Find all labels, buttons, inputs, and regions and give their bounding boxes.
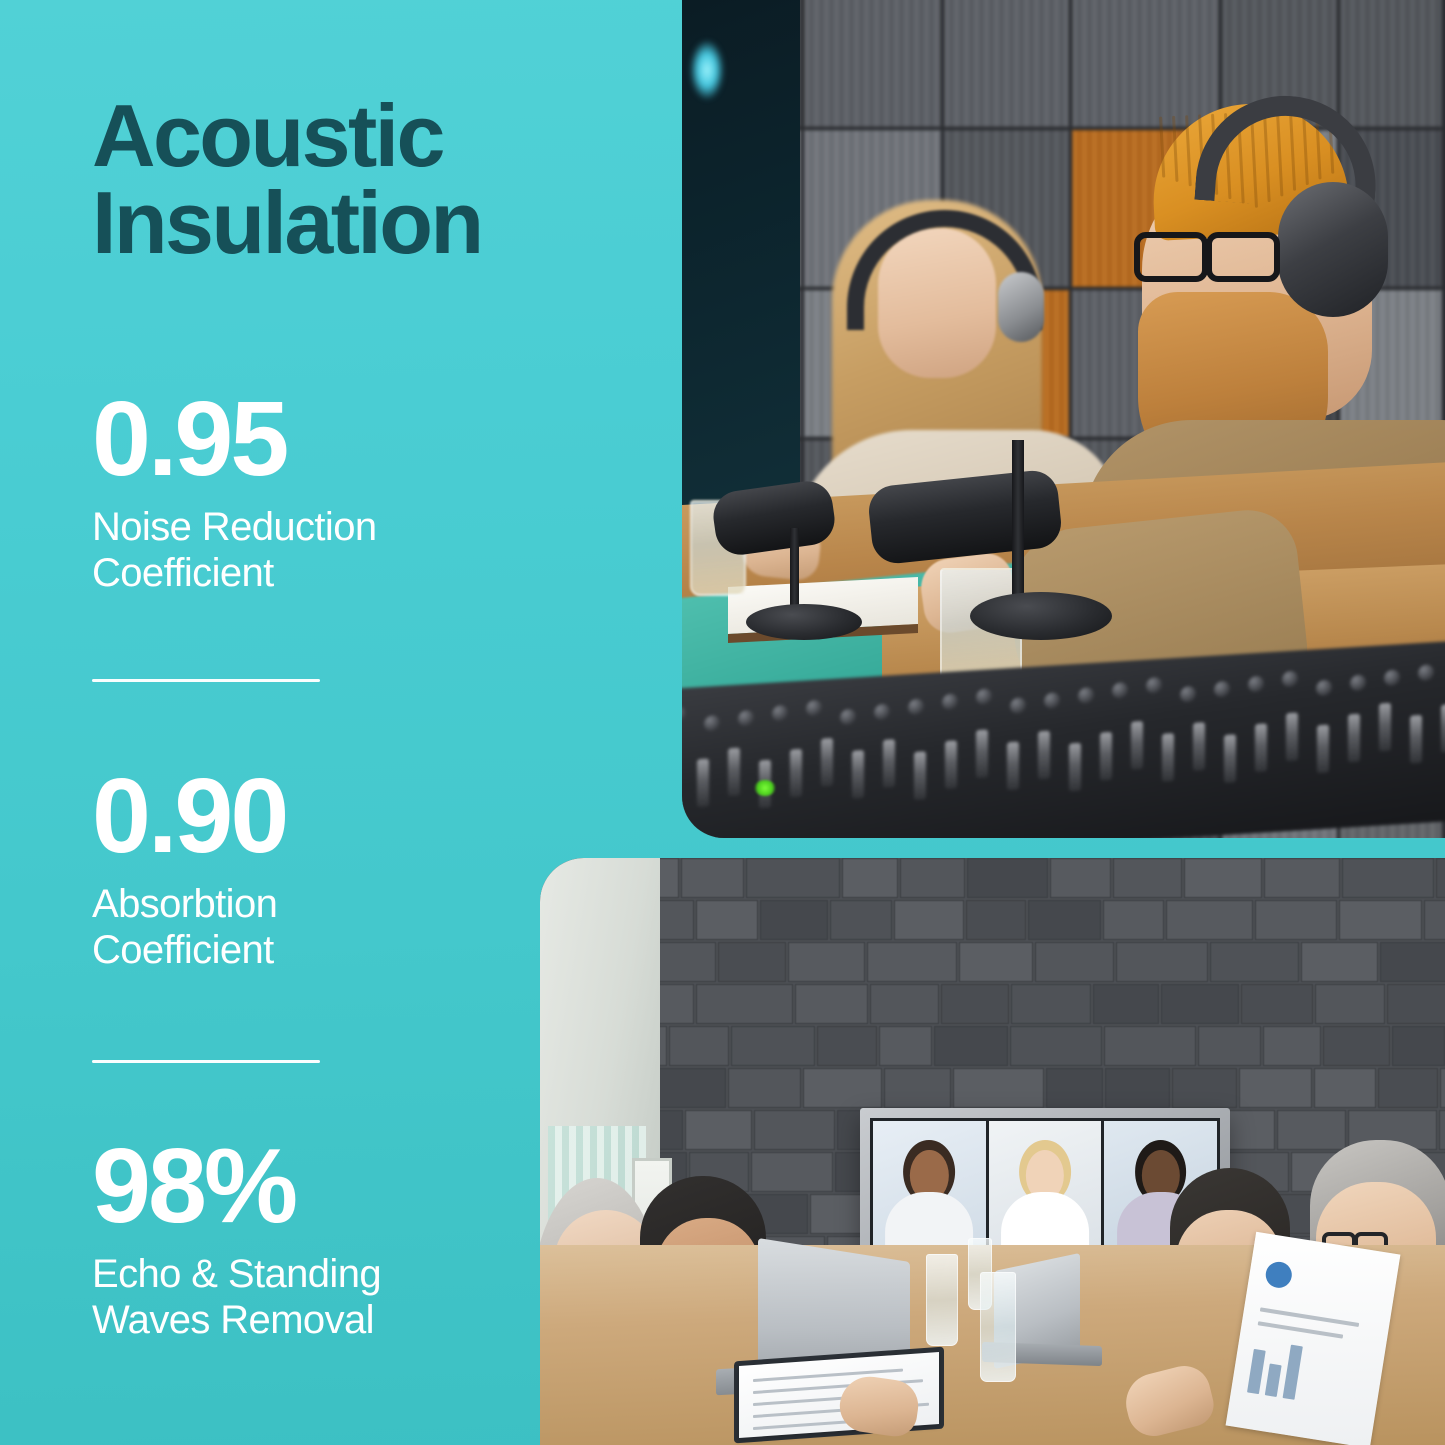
mixer-fader bbox=[1131, 721, 1143, 770]
stat-label-line-1: Noise Reduction bbox=[92, 505, 377, 549]
acoustic-brick bbox=[1301, 942, 1378, 982]
stat-block-absorbtion: 0.90 Absorbtion Coefficient bbox=[92, 763, 612, 974]
page-title-line-2: Insulation bbox=[92, 179, 652, 266]
acoustic-brick bbox=[1239, 1068, 1312, 1108]
mixer-knob bbox=[1180, 686, 1196, 703]
mixer-knob bbox=[1316, 679, 1332, 696]
mixer-fader bbox=[976, 729, 988, 778]
microphone-right-base bbox=[970, 592, 1112, 640]
mixer-fader bbox=[1286, 712, 1298, 761]
acoustic-brick bbox=[1314, 1068, 1376, 1108]
mixer-fader bbox=[1255, 723, 1267, 772]
acoustic-brick bbox=[751, 1152, 833, 1192]
photo-conference-room bbox=[540, 858, 1445, 1445]
acoustic-brick bbox=[669, 1026, 729, 1066]
acoustic-brick bbox=[817, 1026, 877, 1066]
mixer-knob bbox=[1384, 669, 1400, 686]
acoustic-brick bbox=[1050, 858, 1111, 898]
acoustic-brick bbox=[959, 942, 1033, 982]
acoustic-brick bbox=[1105, 1068, 1170, 1108]
mixer-knob bbox=[1282, 670, 1298, 687]
acoustic-brick bbox=[760, 900, 828, 940]
acoustic-brick bbox=[1198, 1026, 1261, 1066]
acoustic-brick bbox=[1046, 1068, 1103, 1108]
acoustic-brick bbox=[1436, 858, 1445, 898]
acoustic-brick bbox=[795, 984, 868, 1024]
mixer-fader bbox=[1224, 734, 1236, 783]
acoustic-brick bbox=[1116, 942, 1208, 982]
mixer-knob bbox=[1248, 676, 1264, 693]
acoustic-brick bbox=[803, 1068, 882, 1108]
mixer-knob bbox=[1112, 682, 1128, 699]
mixer-fader bbox=[945, 740, 957, 789]
mixer-fader bbox=[790, 749, 802, 798]
mixer-fader bbox=[821, 738, 833, 787]
acoustic-brick bbox=[894, 900, 964, 940]
acoustic-brick bbox=[1255, 900, 1337, 940]
acoustic-brick bbox=[731, 1026, 815, 1066]
acoustic-panel bbox=[1072, 0, 1219, 127]
microphone-right-stand bbox=[1012, 440, 1024, 610]
acoustic-brick bbox=[1387, 984, 1445, 1024]
acoustic-brick bbox=[1161, 984, 1239, 1024]
acoustic-brick bbox=[754, 1110, 835, 1150]
acoustic-brick bbox=[1028, 900, 1101, 940]
acoustic-brick bbox=[1035, 942, 1114, 982]
acoustic-brick bbox=[842, 858, 898, 898]
acoustic-brick bbox=[1323, 1026, 1390, 1066]
acoustic-brick bbox=[1093, 984, 1159, 1024]
acoustic-brick bbox=[879, 1026, 932, 1066]
stat-block-echo-removal: 98% Echo & Standing Waves Removal bbox=[92, 1133, 612, 1344]
studio-window-glow bbox=[690, 40, 724, 100]
acoustic-panel bbox=[944, 0, 1069, 127]
acoustic-panel bbox=[804, 0, 941, 127]
mixer-knob bbox=[908, 698, 924, 715]
mixer-fader bbox=[1162, 733, 1174, 782]
report-document bbox=[1226, 1232, 1401, 1445]
acoustic-brick bbox=[1113, 858, 1182, 898]
mixer-knob bbox=[874, 703, 890, 720]
beanie-rib bbox=[1185, 115, 1192, 186]
stat-value: 0.95 bbox=[92, 386, 612, 492]
mixer-knob bbox=[1418, 664, 1434, 681]
acoustic-brick bbox=[830, 900, 892, 940]
mixer-knob bbox=[772, 705, 788, 722]
acoustic-brick bbox=[1104, 1026, 1196, 1066]
acoustic-brick bbox=[1315, 984, 1385, 1024]
mixer-knob bbox=[1146, 677, 1162, 694]
mixer-fader bbox=[1348, 714, 1360, 763]
mixer-fader bbox=[852, 750, 864, 799]
mixer-fader bbox=[1317, 725, 1329, 774]
podcaster-man-glasses bbox=[1134, 232, 1282, 272]
water-glass-3 bbox=[980, 1272, 1016, 1382]
acoustic-brick bbox=[884, 1068, 951, 1108]
mixer-fader bbox=[1007, 742, 1019, 791]
acoustic-brick bbox=[1184, 858, 1262, 898]
acoustic-brick bbox=[696, 900, 758, 940]
acoustic-brick bbox=[934, 1026, 1008, 1066]
acoustic-brick bbox=[1440, 1068, 1445, 1108]
water-glass-1 bbox=[926, 1254, 958, 1346]
acoustic-brick bbox=[1439, 1110, 1445, 1150]
acoustic-brick bbox=[1263, 1026, 1321, 1066]
acoustic-brick bbox=[1241, 984, 1313, 1024]
acoustic-brick bbox=[1264, 858, 1340, 898]
mixer-knob bbox=[1010, 697, 1026, 714]
mixer-knob bbox=[738, 710, 754, 727]
acoustic-brick bbox=[1210, 942, 1299, 982]
acoustic-brick bbox=[1103, 900, 1164, 940]
mixer-fader bbox=[914, 751, 926, 800]
podcaster-man-headphone-cup bbox=[1278, 182, 1388, 317]
mixer-knob bbox=[1044, 692, 1060, 709]
acoustic-brick bbox=[870, 984, 939, 1024]
acoustic-brick bbox=[1010, 1026, 1102, 1066]
acoustic-brick bbox=[1378, 1068, 1438, 1108]
stat-label: Noise Reduction Coefficient bbox=[92, 504, 492, 597]
acoustic-brick bbox=[681, 858, 744, 898]
mixer-fader bbox=[1193, 722, 1205, 771]
acoustic-brick bbox=[1166, 900, 1253, 940]
stat-block-noise-reduction: 0.95 Noise Reduction Coefficient bbox=[92, 386, 612, 597]
mixer-knob bbox=[840, 709, 856, 726]
acoustic-brick bbox=[1011, 984, 1091, 1024]
acoustic-brick bbox=[941, 984, 1009, 1024]
acoustic-brick bbox=[1342, 858, 1434, 898]
acoustic-brick bbox=[1339, 900, 1422, 940]
stat-value: 98% bbox=[92, 1133, 612, 1239]
infographic-canvas: Acoustic Insulation 0.95 Noise Reduction… bbox=[0, 0, 1445, 1445]
stat-label-line-1: Absorbtion bbox=[92, 882, 277, 926]
acoustic-brick bbox=[746, 858, 840, 898]
acoustic-brick bbox=[1380, 942, 1445, 982]
stat-divider bbox=[92, 679, 320, 682]
mixer-fader bbox=[883, 739, 895, 788]
mixer-fader bbox=[697, 759, 709, 808]
microphone-left-base bbox=[746, 604, 862, 640]
mixer-fader bbox=[728, 748, 740, 797]
mixer-fader bbox=[1069, 743, 1081, 792]
stat-label: Echo & Standing Waves Removal bbox=[92, 1251, 492, 1344]
acoustic-brick bbox=[728, 1068, 801, 1108]
mixer-knob bbox=[1078, 687, 1094, 704]
acoustic-brick bbox=[1172, 1068, 1237, 1108]
mixer-fader bbox=[1379, 703, 1391, 752]
mixer-fader bbox=[1100, 732, 1112, 781]
acoustic-brick bbox=[967, 858, 1048, 898]
mixer-knob bbox=[704, 715, 720, 732]
mixer-knob bbox=[1350, 674, 1366, 691]
acoustic-brick bbox=[651, 942, 716, 982]
stat-label-line-2: Coefficient bbox=[92, 551, 274, 595]
acoustic-brick bbox=[685, 1110, 752, 1150]
page-title: Acoustic Insulation bbox=[92, 92, 652, 266]
acoustic-brick bbox=[900, 858, 965, 898]
mixer-knob bbox=[1214, 681, 1230, 698]
stat-label-line-2: Coefficient bbox=[92, 928, 274, 972]
page-title-line-1: Acoustic bbox=[92, 92, 652, 179]
stat-label: Absorbtion Coefficient bbox=[92, 881, 492, 974]
mixer-power-led bbox=[754, 780, 776, 796]
acoustic-brick bbox=[696, 984, 793, 1024]
mixer-fader bbox=[1410, 715, 1422, 764]
mixer-knob bbox=[806, 700, 822, 717]
acoustic-brick bbox=[1392, 1026, 1445, 1066]
stat-label-line-1: Echo & Standing bbox=[92, 1252, 381, 1296]
mixer-knob bbox=[682, 706, 686, 723]
acoustic-brick bbox=[953, 1068, 1044, 1108]
mixer-knob bbox=[942, 693, 958, 710]
stat-divider bbox=[92, 1060, 320, 1063]
mixer-knob bbox=[976, 688, 992, 705]
acoustic-panel bbox=[1340, 0, 1442, 127]
acoustic-brick bbox=[788, 942, 865, 982]
stat-label-line-2: Waves Removal bbox=[92, 1298, 374, 1342]
stat-value: 0.90 bbox=[92, 763, 612, 869]
acoustic-brick bbox=[1277, 1110, 1346, 1150]
mixer-fader bbox=[1441, 704, 1445, 753]
acoustic-brick bbox=[718, 942, 786, 982]
acoustic-brick bbox=[1424, 900, 1445, 940]
acoustic-brick bbox=[966, 900, 1026, 940]
mixer-fader bbox=[1038, 731, 1050, 780]
photo-podcast-studio bbox=[682, 0, 1445, 838]
acoustic-brick bbox=[867, 942, 957, 982]
podcaster-woman-headphone-cup bbox=[998, 272, 1044, 342]
